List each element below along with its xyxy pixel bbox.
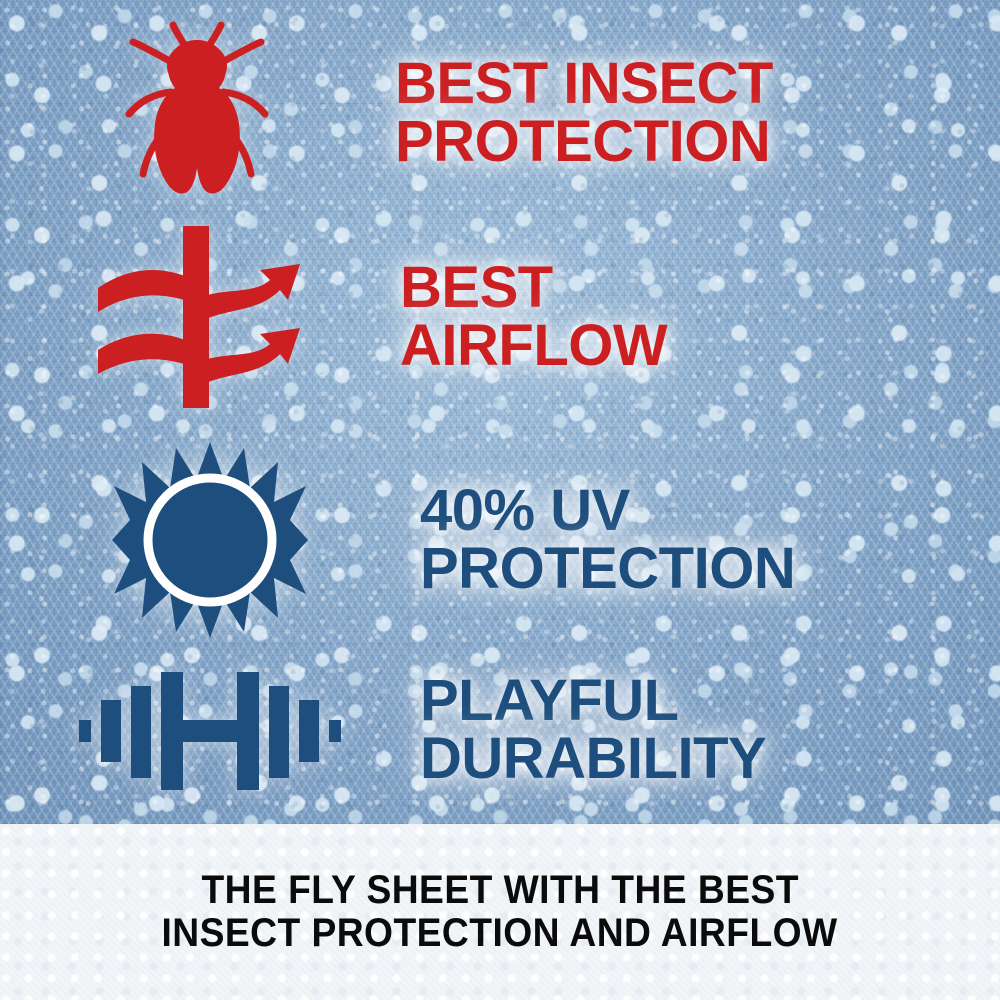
feature-label-line-1: PLAYFUL [420,672,766,730]
feature-text-cell: BEST INSECT PROTECTION [395,55,773,171]
dumbbell-plate-right-3 [237,672,259,790]
dumbbell-plate-left-3 [161,672,183,790]
feature-label-line-2: DURABILITY [420,730,766,788]
dumbbell-plate-right-2 [269,686,289,778]
dumbbell-end-cap-right [329,720,341,742]
feature-row-airflow: BEST AIRFLOW [0,222,1000,412]
feature-label-line-1: BEST [400,259,667,317]
sunburst-shape [112,442,308,638]
feature-label-line-2: AIRFLOW [400,317,667,375]
dumbbell-plate-right-1 [299,700,319,762]
feature-label-uv-protection: 40% UV PROTECTION [420,482,795,598]
feature-text-cell: PLAYFUL DURABILITY [420,672,766,788]
dumbbell-icon [75,660,345,800]
airflow-stream-lower-left [98,334,190,374]
feature-text-cell: BEST AIRFLOW [400,259,667,375]
feature-icon-cell [0,20,395,205]
sun-uv-icon [110,440,310,640]
caption-line-1: THE FLY SHEET WITH THE BEST [201,869,798,912]
caption-line-2: INSECT PROTECTION AND AIRFLOW [162,912,838,955]
airflow-arrows-icon [90,222,310,412]
feature-label-line-2: PROTECTION [420,540,795,598]
caption-band: THE FLY SHEET WITH THE BEST INSECT PROTE… [0,824,1000,1000]
feature-label-durability: PLAYFUL DURABILITY [420,672,766,788]
feature-icon-cell [0,660,420,800]
airflow-arrow-upper-right [204,264,300,320]
feature-label-airflow: BEST AIRFLOW [400,259,667,375]
feature-label-line-1: BEST INSECT [395,55,773,113]
airflow-stream-upper-left [98,270,190,312]
feature-label-line-2: PROTECTION [395,113,773,171]
dumbbell-handle-bar [183,720,239,742]
feature-row-insect-protection: BEST INSECT PROTECTION [0,20,1000,205]
feature-icon-cell [0,222,400,412]
feature-text-cell: 40% UV PROTECTION [420,482,795,598]
feature-row-durability: PLAYFUL DURABILITY [0,650,1000,810]
airflow-arrow-lower-right [204,328,300,384]
feature-row-uv-protection: 40% UV PROTECTION [0,440,1000,640]
dumbbell-plate-left-1 [101,700,121,762]
fly-icon [113,20,283,205]
product-infographic: BEST INSECT PROTECTION BEST AIRFLOW [0,0,1000,1000]
dumbbell-plate-left-2 [131,686,151,778]
feature-label-line-1: 40% UV [420,482,795,540]
dumbbell-end-cap-left [79,720,91,742]
feature-label-insect-protection: BEST INSECT PROTECTION [395,55,773,171]
feature-icon-cell [0,440,420,640]
